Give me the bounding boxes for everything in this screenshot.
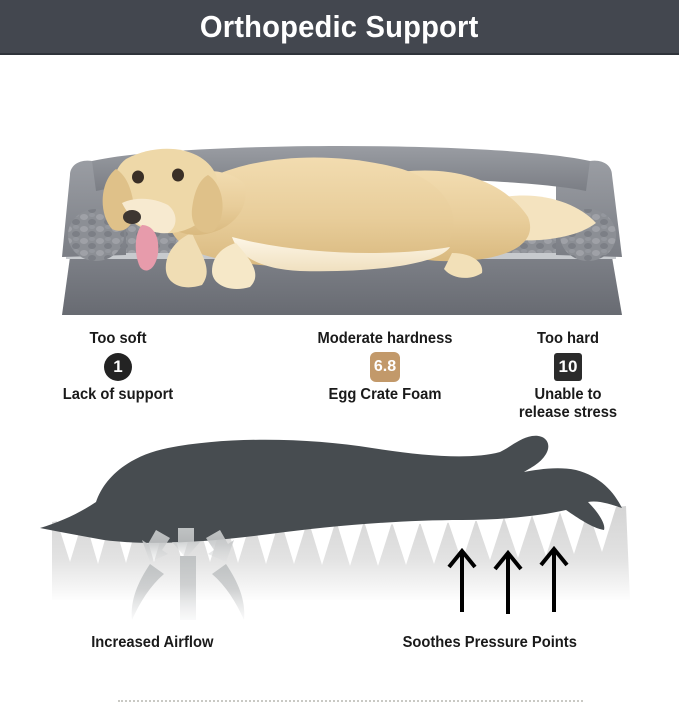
- scale-right-badge-row: 10: [478, 351, 658, 383]
- scale-right-bottom-label-line1: Unable to: [483, 386, 654, 404]
- scale-left-bottom-label: Lack of support: [33, 386, 204, 404]
- scale-node-moderate: Moderate hardness 6.8 Egg Crate Foam: [295, 330, 475, 404]
- scale-right-bottom-label-line2: release stress: [483, 404, 654, 422]
- scale-node-too-hard: Too hard 10 Unable to release stress: [478, 330, 658, 422]
- foam-cross-section: [0, 430, 679, 630]
- hardness-scale: Too soft 1 Lack of support Moderate hard…: [0, 330, 679, 430]
- header-banner: Orthopedic Support: [0, 0, 679, 55]
- scale-middle-badge-row: 6.8: [295, 351, 475, 383]
- scale-left-top-label: Too soft: [33, 330, 204, 348]
- dog-eye-right: [172, 169, 184, 182]
- scale-left-badge-row: 1: [28, 351, 208, 383]
- scale-middle-badge: 6.8: [370, 352, 400, 382]
- dog-nose: [123, 210, 141, 224]
- caption-soothes-pressure-points: Soothes Pressure Points: [403, 634, 577, 652]
- scale-left-badge: 1: [104, 353, 132, 381]
- scale-right-top-label: Too hard: [483, 330, 654, 348]
- scale-middle-top-label: Moderate hardness: [300, 330, 471, 348]
- page-title: Orthopedic Support: [200, 11, 479, 42]
- scale-node-too-soft: Too soft 1 Lack of support: [28, 330, 208, 404]
- product-photo: [0, 57, 679, 325]
- dog-eye-left: [132, 171, 144, 184]
- airflow-arrow-center-shaft: [180, 556, 196, 620]
- scale-right-badge: 10: [554, 353, 582, 381]
- dog-on-bed-illustration: [0, 57, 679, 325]
- caption-increased-airflow: Increased Airflow: [91, 634, 213, 652]
- scale-middle-bottom-label: Egg Crate Foam: [300, 386, 471, 404]
- foam-diagram: Increased Airflow Soothes Pressure Point…: [0, 430, 679, 654]
